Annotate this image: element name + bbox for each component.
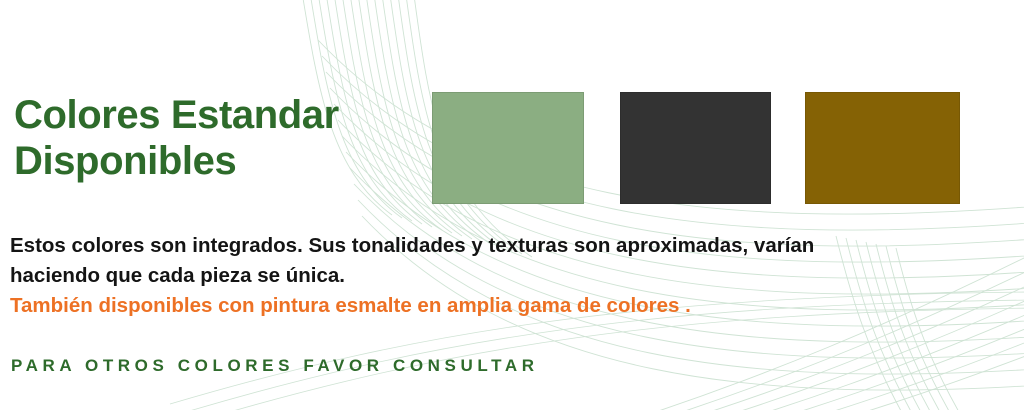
description-text: Estos colores son integrados. Sus tonali… [10, 231, 970, 321]
description-line-1: Estos colores son integrados. Sus tonali… [10, 231, 970, 261]
color-options-banner: Colores Estandar Disponibles Estos color… [0, 0, 1024, 410]
description-line-2: haciendo que cada pieza se única. [10, 261, 970, 291]
description-line-3-accent: También disponibles con pintura esmalte … [10, 291, 970, 321]
color-swatch-charcoal [620, 92, 771, 204]
color-swatch-group [432, 92, 960, 204]
page-title-line-1: Colores Estandar [14, 92, 434, 138]
page-title-line-2: Disponibles [14, 138, 434, 184]
banner-content: Colores Estandar Disponibles Estos color… [0, 0, 1024, 410]
color-swatch-olive-gold [805, 92, 960, 204]
footer-note: PARA OTROS COLORES FAVOR CONSULTAR [11, 356, 539, 376]
page-title: Colores Estandar Disponibles [14, 92, 434, 184]
color-swatch-sage-green [432, 92, 584, 204]
